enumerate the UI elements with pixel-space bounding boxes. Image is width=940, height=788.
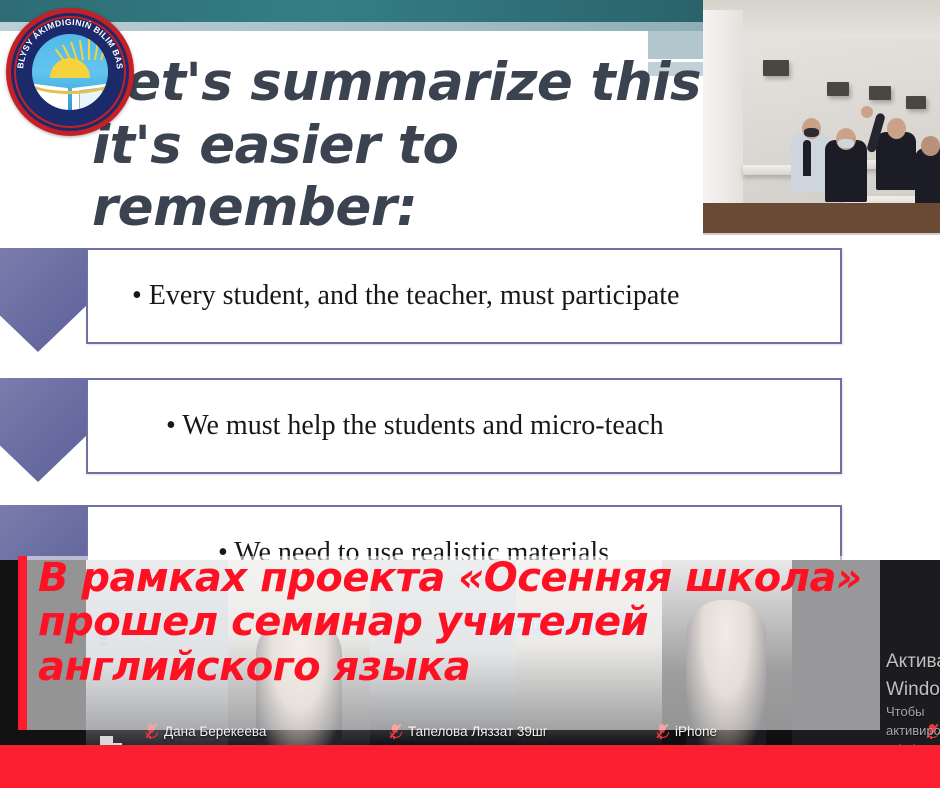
svg-text:JAMBYL OBLYSY ÁKIMDIGINIŃ BILI: JAMBYL OBLYSY ÁKIMDIGINIŃ BILIM BASQARMA… (6, 8, 125, 70)
slide-bullet-box: • We must help the students and micro-te… (86, 378, 842, 474)
logo-arc-text: JAMBYL OBLYSY ÁKIMDIGINIŃ BILIM BASQARMA… (6, 8, 134, 136)
organization-logo: JAMBYL OBLYSY ÁKIMDIGINIŃ BILIM BASQARMA… (6, 8, 134, 136)
chevron-arrow-icon (0, 248, 90, 352)
slide-bullet-text: • Every student, and the teacher, must p… (88, 280, 679, 312)
slide-bullet-box: • Every student, and the teacher, must p… (86, 248, 842, 344)
screenshot-root: Let's summarize this so it's easier to r… (0, 0, 940, 788)
footer-red-bar (0, 745, 940, 788)
slide-title: Let's summarize this so it's easier to r… (92, 52, 792, 240)
chevron-arrow-icon (0, 378, 90, 482)
headline-accent-bar (18, 556, 27, 730)
headline-text: В рамках проекта «Осенняя школа» прошел … (38, 556, 918, 689)
slide-bullet-text: • We must help the students and micro-te… (88, 410, 664, 442)
logo-arc-text-content: JAMBYL OBLYSY ÁKIMDIGINIŃ BILIM BASQARMA… (6, 8, 125, 70)
classroom-video-thumbnail[interactable] (703, 0, 940, 235)
